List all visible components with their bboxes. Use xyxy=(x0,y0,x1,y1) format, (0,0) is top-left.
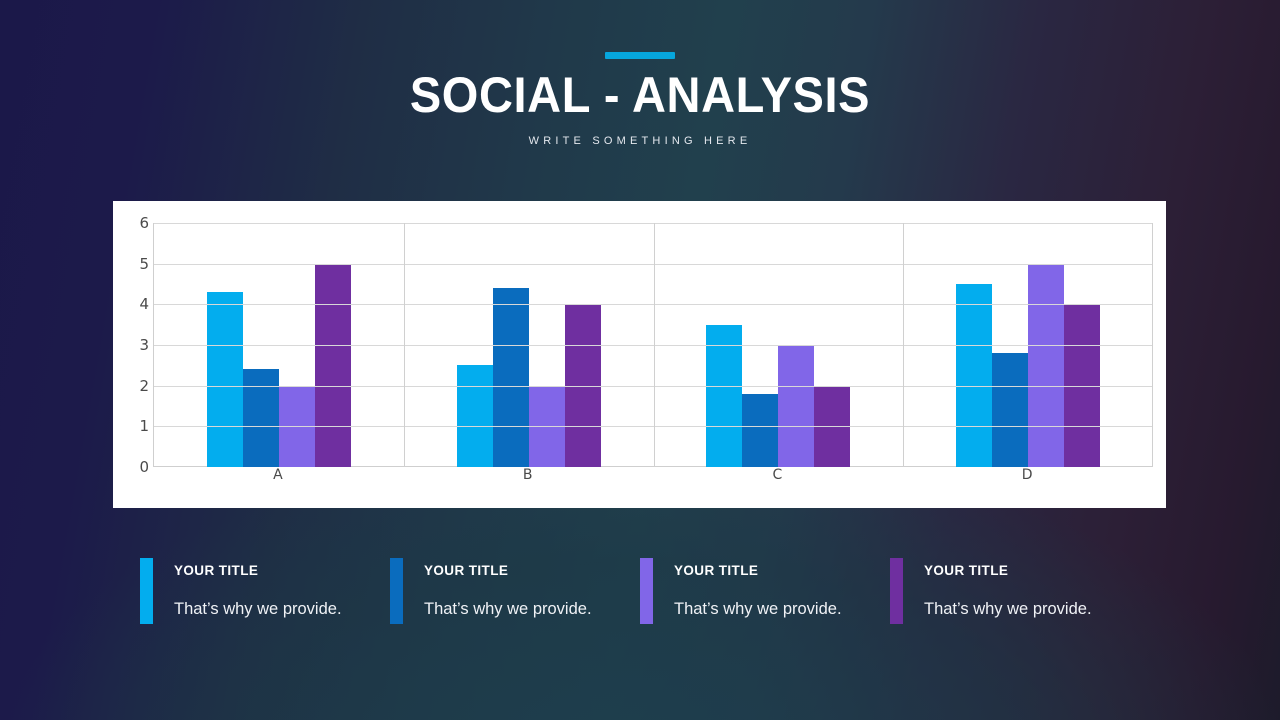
bar-A-series-1[interactable] xyxy=(207,292,243,467)
legend-item-description: That’s why we provide. xyxy=(174,600,342,619)
y-axis-tick-1: 1 xyxy=(139,417,149,435)
y-axis-tick-0: 0 xyxy=(139,458,149,476)
legend-item-4[interactable]: YOUR TITLEThat’s why we provide. xyxy=(890,558,1140,638)
bar-C-series-1[interactable] xyxy=(706,325,742,467)
legend-text-block: YOUR TITLEThat’s why we provide. xyxy=(174,558,342,619)
bar-D-series-3[interactable] xyxy=(1028,264,1064,467)
bar-C-series-2[interactable] xyxy=(742,394,778,467)
legend-item-title: YOUR TITLE xyxy=(674,563,842,578)
legend-color-swatch xyxy=(140,558,153,624)
legend-item-title: YOUR TITLE xyxy=(174,563,342,578)
chart-panel: 0123456 ABCD xyxy=(113,201,1166,508)
y-axis-tick-2: 2 xyxy=(139,377,149,395)
legend-item-2[interactable]: YOUR TITLEThat’s why we provide. xyxy=(390,558,640,638)
gridline-vertical xyxy=(1152,223,1153,467)
bar-A-series-4[interactable] xyxy=(315,264,351,467)
legend-color-swatch xyxy=(390,558,403,624)
legend-item-description: That’s why we provide. xyxy=(674,600,842,619)
y-axis-tick-6: 6 xyxy=(139,214,149,232)
x-axis-tick-A: A xyxy=(153,467,403,483)
gridline-vertical xyxy=(654,223,655,467)
y-axis-tick-labels: 0123456 xyxy=(119,201,149,508)
y-axis-tick-4: 4 xyxy=(139,295,149,313)
legend-item-1[interactable]: YOUR TITLEThat’s why we provide. xyxy=(140,558,390,638)
x-axis-tick-B: B xyxy=(403,467,653,483)
page-title: SOCIAL - ANALYSIS xyxy=(0,69,1280,121)
page-subtitle: WRITE SOMETHING HERE xyxy=(0,135,1280,147)
bar-C-series-3[interactable] xyxy=(778,345,814,467)
bar-chart: 0123456 ABCD xyxy=(113,201,1166,508)
bar-B-series-1[interactable] xyxy=(457,365,493,467)
x-axis-tick-labels: ABCD xyxy=(153,467,1152,483)
legend-text-block: YOUR TITLEThat’s why we provide. xyxy=(674,558,842,619)
bar-D-series-2[interactable] xyxy=(992,353,1028,467)
legend-item-description: That’s why we provide. xyxy=(924,600,1092,619)
chart-legend: YOUR TITLEThat’s why we provide.YOUR TIT… xyxy=(140,558,1140,638)
plot-area xyxy=(153,223,1152,467)
x-axis-tick-D: D xyxy=(902,467,1152,483)
bar-A-series-2[interactable] xyxy=(243,369,279,467)
legend-text-block: YOUR TITLEThat’s why we provide. xyxy=(424,558,592,619)
legend-color-swatch xyxy=(890,558,903,624)
legend-text-block: YOUR TITLEThat’s why we provide. xyxy=(924,558,1092,619)
slide-header: SOCIAL - ANALYSIS WRITE SOMETHING HERE xyxy=(0,0,1280,147)
title-accent-bar xyxy=(605,52,675,59)
legend-item-3[interactable]: YOUR TITLEThat’s why we provide. xyxy=(640,558,890,638)
x-axis-tick-C: C xyxy=(653,467,903,483)
legend-item-description: That’s why we provide. xyxy=(424,600,592,619)
legend-color-swatch xyxy=(640,558,653,624)
gridline-vertical xyxy=(404,223,405,467)
y-axis-tick-5: 5 xyxy=(139,255,149,273)
gridline-vertical xyxy=(903,223,904,467)
bar-B-series-2[interactable] xyxy=(493,288,529,467)
y-axis-tick-3: 3 xyxy=(139,336,149,354)
legend-item-title: YOUR TITLE xyxy=(424,563,592,578)
bar-D-series-1[interactable] xyxy=(956,284,992,467)
legend-item-title: YOUR TITLE xyxy=(924,563,1092,578)
